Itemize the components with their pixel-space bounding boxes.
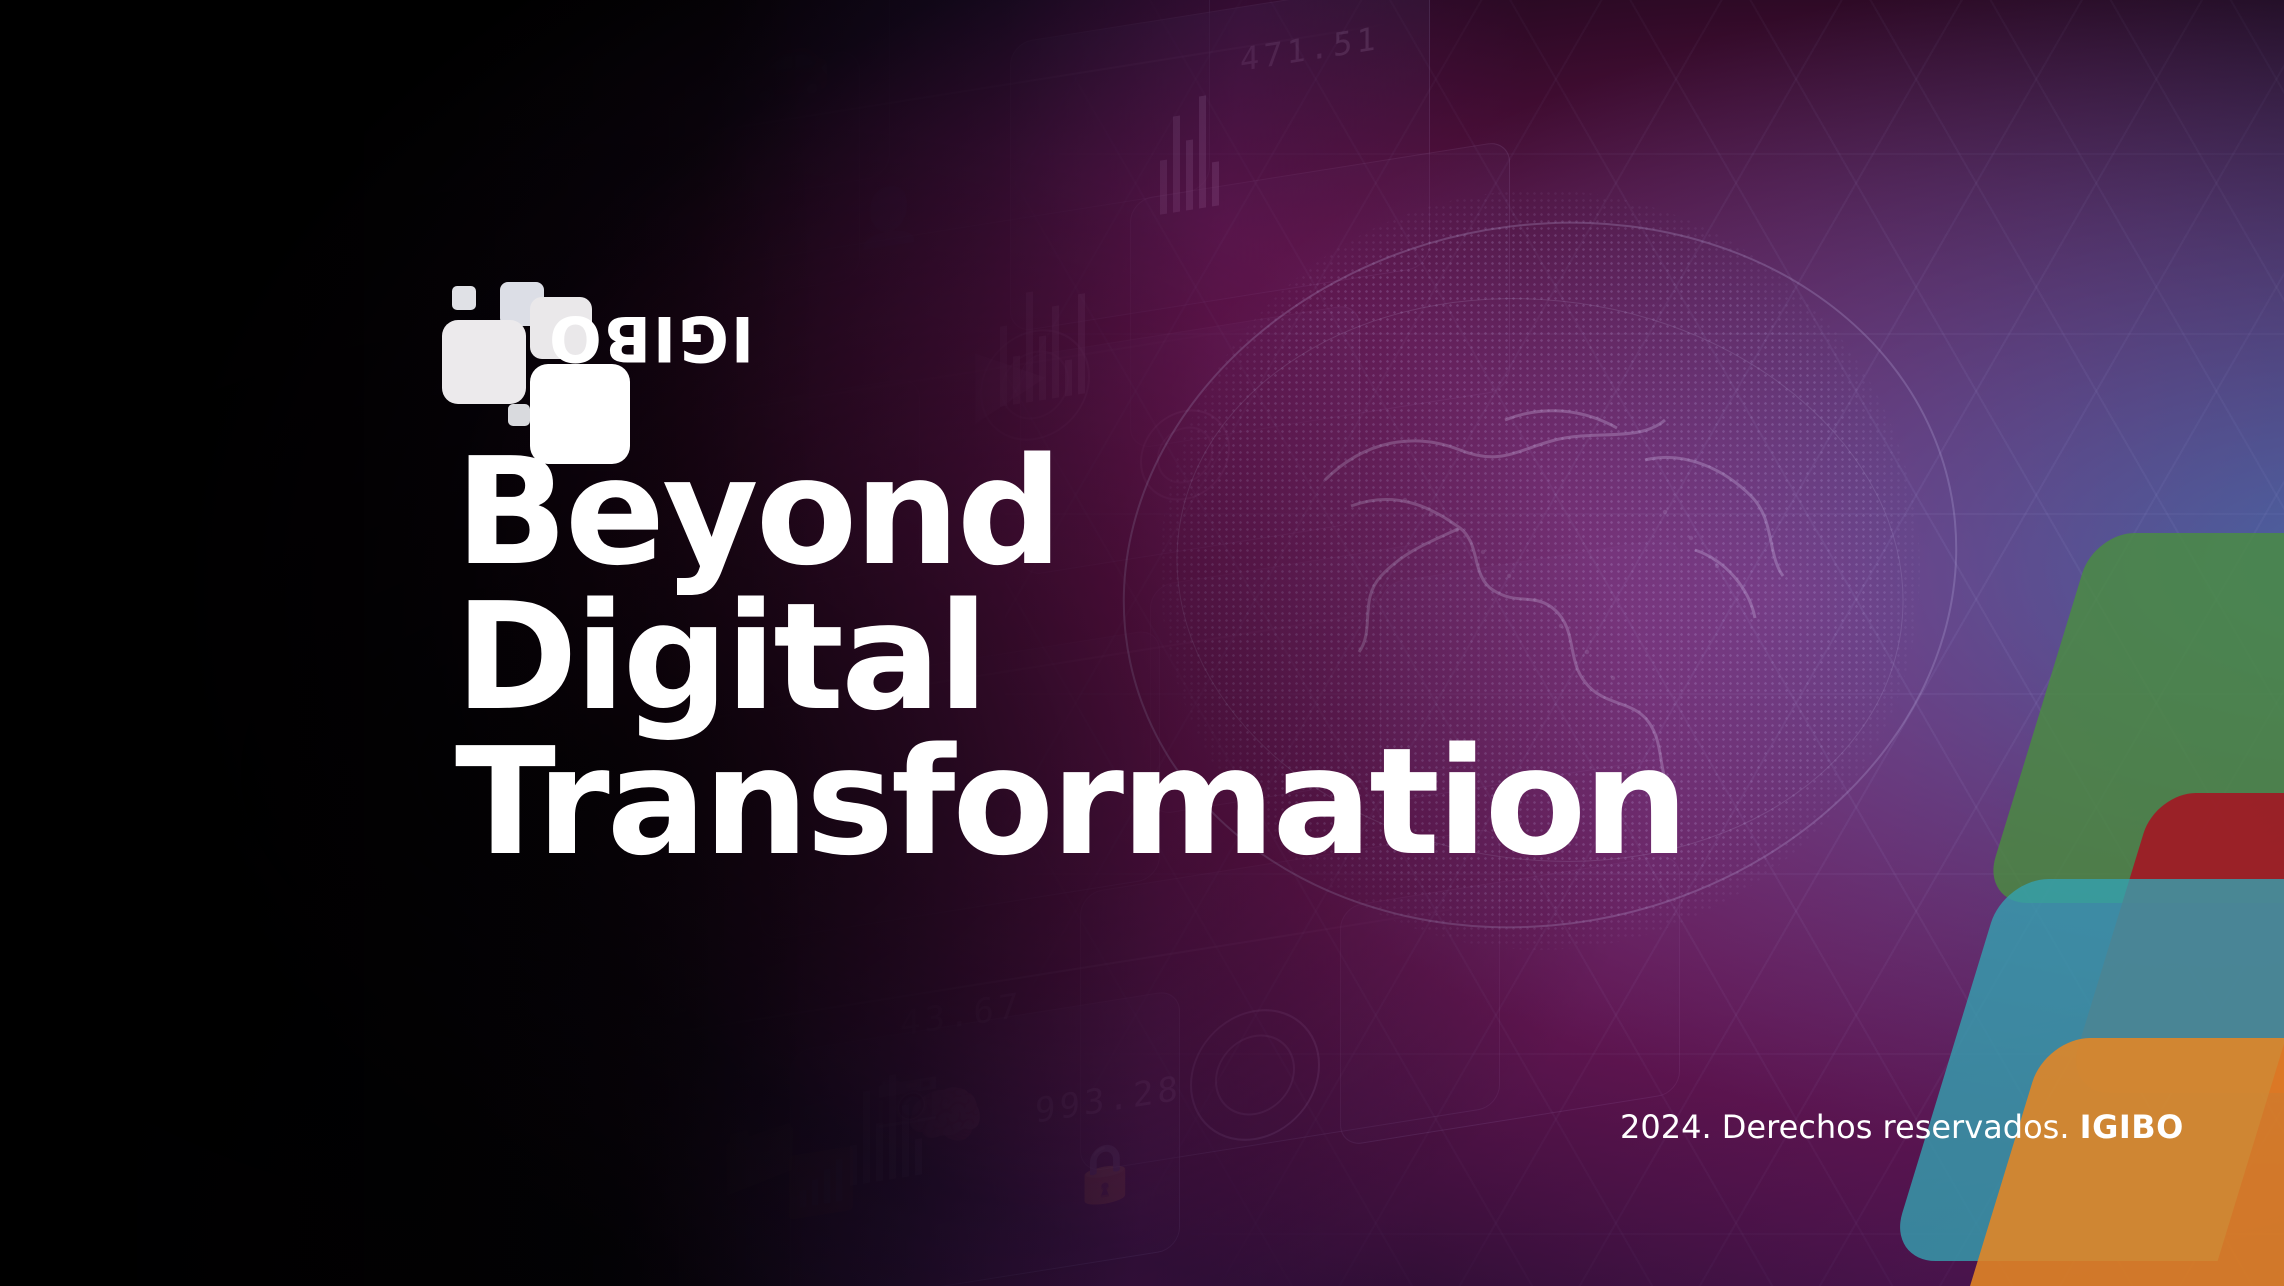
copyright-text: 2024. Derechos reservados.: [1620, 1108, 2080, 1146]
footer-brand: IGIBO: [2080, 1108, 2184, 1146]
headline-line-3: Transformation: [455, 730, 1755, 875]
igibo-logo[interactable]: IGIBO: [452, 286, 752, 446]
logo-tile-3: [442, 320, 526, 404]
copyright-footer: 2024. Derechos reservados. IGIBO: [1620, 1108, 2184, 1146]
page-title: Beyond Digital Transformation: [455, 440, 1755, 875]
title-slide: 🛒 🎥 📈 ⌂ 🌐 🔍 🚗 👤 ▶ 📁 🧠 📷 🏢 📄 🔒 📶 229.56 9…: [0, 0, 2284, 1286]
headline-line-2: Digital: [455, 585, 1755, 730]
headline-line-1: Beyond: [455, 440, 1755, 585]
logo-wordmark: IGIBO: [634, 310, 754, 367]
logo-tile-1: [452, 286, 476, 310]
logo-tile-5: [508, 404, 530, 426]
